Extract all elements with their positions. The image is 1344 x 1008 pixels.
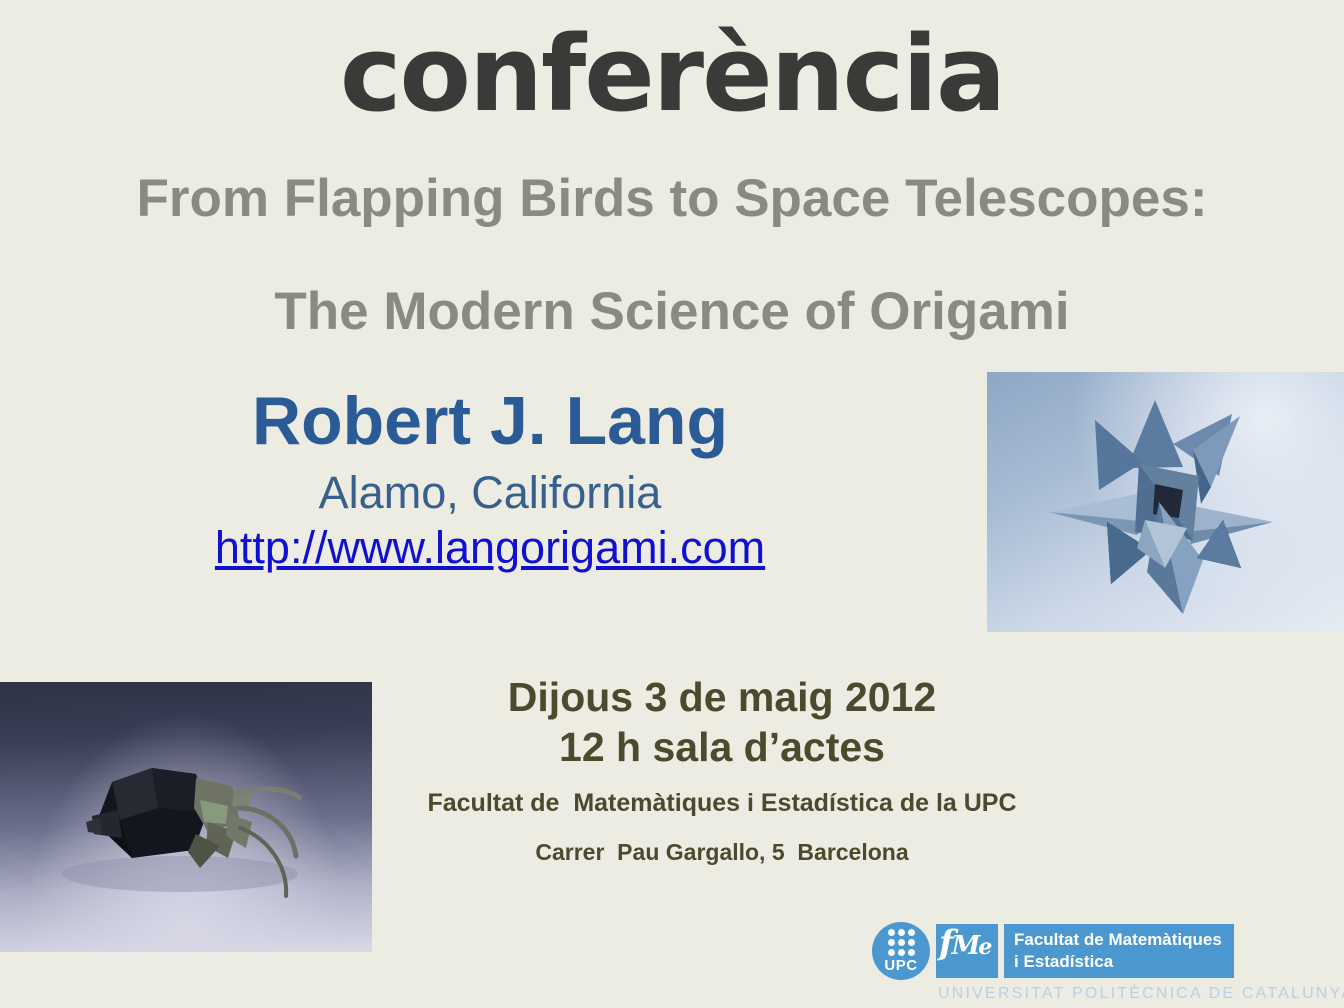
conference-poster: conferència From Flapping Birds to Space… [0, 0, 1344, 1008]
speaker-location: Alamo, California [0, 469, 980, 516]
origami-crab-illustration [0, 682, 372, 952]
origami-crab-photo [0, 682, 372, 952]
upc-fme-logo: UPC fMe Facultat de Matemàtiques i Estad… [872, 922, 1344, 1004]
upc-dots-icon [888, 929, 915, 956]
origami-star-illustration [987, 372, 1344, 632]
event-faculty: Facultat de Matemàtiques i Estadística d… [372, 787, 1072, 820]
origami-star-photo [987, 372, 1344, 632]
logo-row: UPC fMe Facultat de Matemàtiques i Estad… [872, 922, 1344, 980]
talk-subtitle-line-2: The Modern Science of Origami [0, 281, 1344, 342]
event-details-block: Dijous 3 de maig 2012 12 h sala d’actes … [372, 672, 1072, 868]
fme-banner-line-2: i Estadística [1014, 951, 1222, 973]
fme-banner: Facultat de Matemàtiques i Estadística [1004, 924, 1234, 978]
fme-monogram-icon: fMe [936, 924, 998, 978]
university-caption: UNIVERSITAT POLITÈCNICA DE CATALUNYA [938, 985, 1344, 1003]
event-time-and-room: 12 h sala d’actes [372, 722, 1072, 773]
event-address: Carrer Pau Gargallo, 5 Barcelona [372, 838, 1072, 868]
fme-banner-line-1: Facultat de Matemàtiques [1014, 929, 1222, 951]
page-title: conferència [0, 18, 1344, 130]
upc-logo-label: UPC [884, 958, 917, 973]
fme-monogram-glyph: fMe [939, 926, 990, 960]
speaker-website-link[interactable]: http://www.langorigami.com [215, 523, 765, 573]
upc-logo-icon: UPC [872, 922, 930, 980]
speaker-name: Robert J. Lang [0, 386, 980, 457]
speaker-block: Robert J. Lang Alamo, California http://… [0, 386, 980, 573]
talk-subtitle-line-1: From Flapping Birds to Space Telescopes: [0, 168, 1344, 229]
event-date: Dijous 3 de maig 2012 [372, 672, 1072, 722]
